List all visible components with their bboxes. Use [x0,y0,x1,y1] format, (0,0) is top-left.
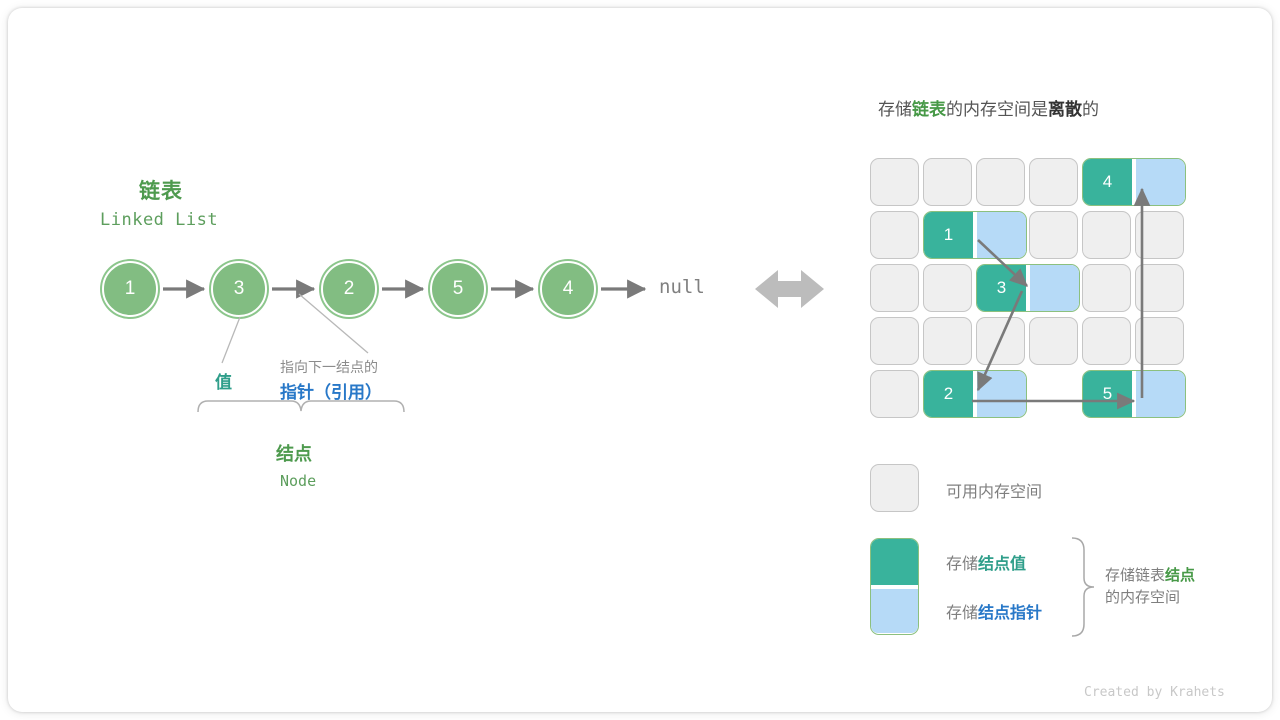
null-terminator-label: null [659,276,705,298]
legend-summary-line1-prefix: 存储链表 [1105,567,1165,584]
memory-title-middle: 的内存空间是 [946,100,1048,119]
diagram-card: 链表 Linked List 1 3 2 5 4 null 值 指向下一结点的 … [8,8,1272,712]
memory-title-suffix: 的 [1082,100,1099,119]
legend-summary-line2: 的内存空间 [1105,587,1195,609]
memory-grid: 4 1 3 2 5 [870,158,1184,422]
legend-swatch-value [871,539,918,585]
memory-title-highlight-green: 链表 [912,100,946,119]
memory-title-highlight-dark: 离散 [1048,100,1082,119]
legend-summary-line1: 存储链表结点 [1105,565,1195,587]
legend-label-free-memory: 可用内存空间 [946,478,1042,502]
legend-label-node-value: 存储结点值 [946,550,1026,574]
legend-swatch-free-memory [870,464,919,512]
legend-swatch-node-pair [870,538,919,635]
pointer-annotation-line2: 指针（引用） [280,378,382,403]
legend-label-node-pointer-prefix: 存储 [946,605,978,622]
node-annotation-cn: 结点 [276,440,312,466]
legend-label-node-value-prefix: 存储 [946,556,978,573]
legend-brace [1068,536,1108,638]
memory-pointer-arrows [870,158,1184,422]
legend-swatch-pointer [871,589,918,633]
memory-title: 存储链表的内存空间是离散的 [878,95,1099,120]
legend-label-node-pointer-bold: 结点指针 [978,605,1042,622]
linked-list-connectors [8,8,848,528]
pointer-annotation-line1: 指向下一结点的 [280,357,378,377]
legend-label-node-value-bold: 结点值 [978,556,1026,573]
node-annotation-en: Node [280,472,316,490]
credit-text: Created by Krahets [1084,685,1225,700]
legend-label-node-pointer: 存储结点指针 [946,599,1042,623]
memory-title-prefix: 存储 [878,100,912,119]
legend-summary: 存储链表结点 的内存空间 [1105,565,1195,609]
value-annotation-label: 值 [215,368,232,393]
legend-summary-line1-bold: 结点 [1165,567,1195,584]
